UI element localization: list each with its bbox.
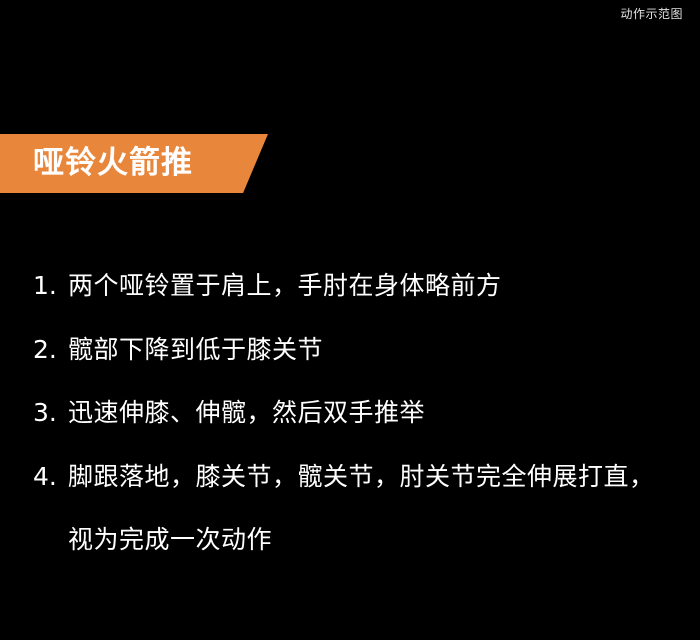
page-title: 哑铃火箭推	[33, 148, 193, 179]
list-item: 3. 迅速伸膝、伸髋，然后双手推举	[33, 395, 693, 459]
list-item: 2. 髋部下降到低于膝关节	[33, 332, 693, 396]
step-text: 脚跟落地，膝关节，髋关节，肘关节完全伸展打直，	[68, 459, 655, 495]
list-item-continuation: 4. 视为完成一次动作	[33, 522, 693, 586]
step-text: 髋部下降到低于膝关节	[68, 332, 323, 368]
step-text: 两个哑铃置于肩上，手肘在身体略前方	[68, 268, 502, 304]
step-number: 4.	[33, 459, 68, 495]
instruction-step-list: 1. 两个哑铃置于肩上，手肘在身体略前方 2. 髋部下降到低于膝关节 3. 迅速…	[33, 268, 693, 586]
step-number: 3.	[33, 395, 68, 431]
corner-label: 动作示范图	[620, 6, 683, 22]
title-banner: 哑铃火箭推	[0, 134, 268, 193]
step-number: 2.	[33, 332, 68, 368]
step-text: 迅速伸膝、伸髋，然后双手推举	[68, 395, 425, 431]
list-item: 1. 两个哑铃置于肩上，手肘在身体略前方	[33, 268, 693, 332]
exercise-instruction-card: 动作示范图 哑铃火箭推 1. 两个哑铃置于肩上，手肘在身体略前方 2. 髋部下降…	[0, 0, 700, 640]
list-item: 4. 脚跟落地，膝关节，髋关节，肘关节完全伸展打直，	[33, 459, 693, 523]
step-number: 1.	[33, 268, 68, 304]
step-text-continuation: 视为完成一次动作	[68, 522, 272, 558]
